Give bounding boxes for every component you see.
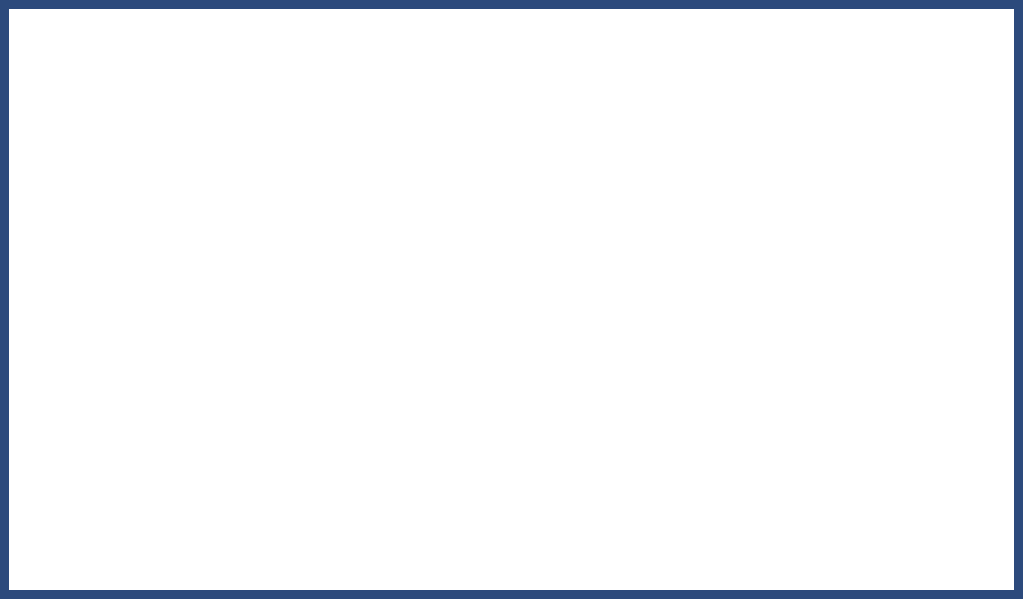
legend-item-life[interactable]: Life: [28, 508, 223, 560]
legend-label-relationship: Relationship: [535, 510, 731, 560]
aspect-circle-personal: [790, 244, 954, 408]
legend-label-work: Work: [285, 510, 475, 560]
slide: Aspects of Life Changes Dynamically Life…: [0, 0, 1023, 599]
legend-label-life: Life: [28, 508, 223, 560]
legend-item-work[interactable]: Work: [285, 510, 475, 560]
venn-diagram-stage: LifeWorkRelationshipPersonal: [0, 0, 1023, 599]
legend-item-relationship[interactable]: Relationship: [535, 510, 731, 560]
legend-item-personal[interactable]: Personal: [790, 510, 986, 560]
legend-label-personal: Personal: [790, 510, 986, 560]
